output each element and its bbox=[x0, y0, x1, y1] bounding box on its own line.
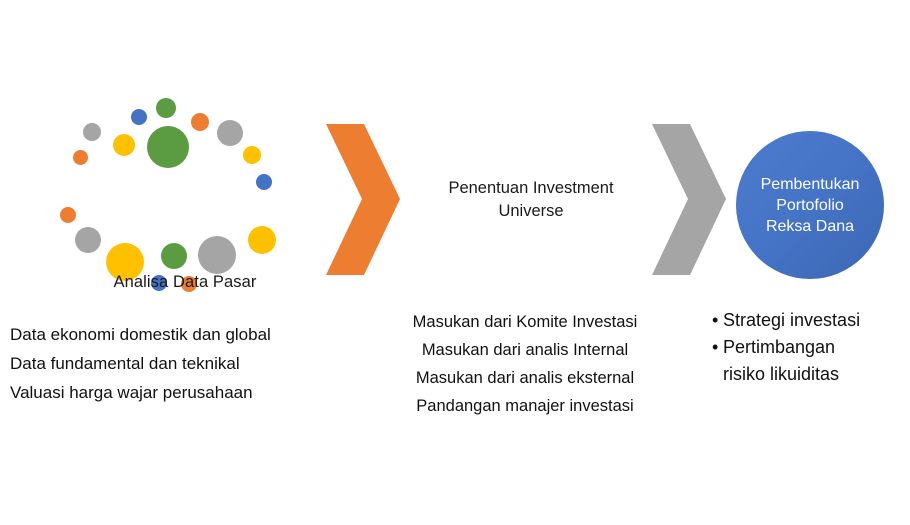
bubble-yellow-4 bbox=[248, 226, 276, 254]
list-item: • Pertimbangan risiko likuiditas bbox=[712, 334, 907, 388]
stage2-notes: Masukan dari Komite Investasi Masukan da… bbox=[385, 308, 665, 420]
process-diagram: Analisa Data Pasar Penentuan Investment … bbox=[0, 0, 910, 525]
bullet-icon: • bbox=[712, 334, 723, 361]
note-line: Data ekonomi domestik dan global bbox=[10, 320, 310, 349]
bubble-orange-1 bbox=[73, 150, 88, 165]
stage1-label: Analisa Data Pasar bbox=[40, 273, 330, 292]
stage3-bullets: • Strategi investasi • Pertimbangan risi… bbox=[712, 307, 907, 388]
stage3-label: Pembentukan Portofolio Reksa Dana bbox=[761, 174, 860, 237]
bullet-icon: • bbox=[712, 307, 723, 334]
bullet-label: Pertimbangan risiko likuiditas bbox=[723, 334, 907, 388]
bubble-green-big bbox=[147, 126, 189, 168]
bubble-yellow-2 bbox=[243, 146, 261, 164]
bullet-label: Strategi investasi bbox=[723, 307, 907, 334]
bubble-orange-3 bbox=[60, 207, 76, 223]
bubble-gray-3 bbox=[75, 227, 101, 253]
market-data-bubble-cluster: Analisa Data Pasar bbox=[40, 85, 330, 310]
bubble-orange-2 bbox=[191, 113, 209, 131]
chevron-orange-icon bbox=[322, 122, 404, 282]
note-line: Valuasi harga wajar perusahaan bbox=[10, 378, 310, 407]
list-item: • Strategi investasi bbox=[712, 307, 907, 334]
stage2-label: Penentuan Investment Universe bbox=[418, 177, 644, 223]
bubble-gray-4 bbox=[198, 236, 236, 274]
portfolio-circle: Pembentukan Portofolio Reksa Dana bbox=[736, 131, 884, 279]
bubble-gray-1 bbox=[83, 123, 101, 141]
bubble-yellow-1 bbox=[113, 134, 135, 156]
bubble-gray-2 bbox=[217, 120, 243, 146]
note-line: Data fundamental dan teknikal bbox=[10, 349, 310, 378]
stage1-notes: Data ekonomi domestik dan global Data fu… bbox=[10, 320, 310, 407]
note-line: Masukan dari analis Internal bbox=[385, 336, 665, 364]
note-line: Pandangan manajer investasi bbox=[385, 392, 665, 420]
bubble-green-1 bbox=[156, 98, 176, 118]
bubble-blue-2 bbox=[256, 174, 272, 190]
bubble-green-2 bbox=[161, 243, 187, 269]
note-line: Masukan dari Komite Investasi bbox=[385, 308, 665, 336]
chevron-gray-icon bbox=[648, 122, 730, 282]
note-line: Masukan dari analis eksternal bbox=[385, 364, 665, 392]
bubble-blue-1 bbox=[131, 109, 147, 125]
